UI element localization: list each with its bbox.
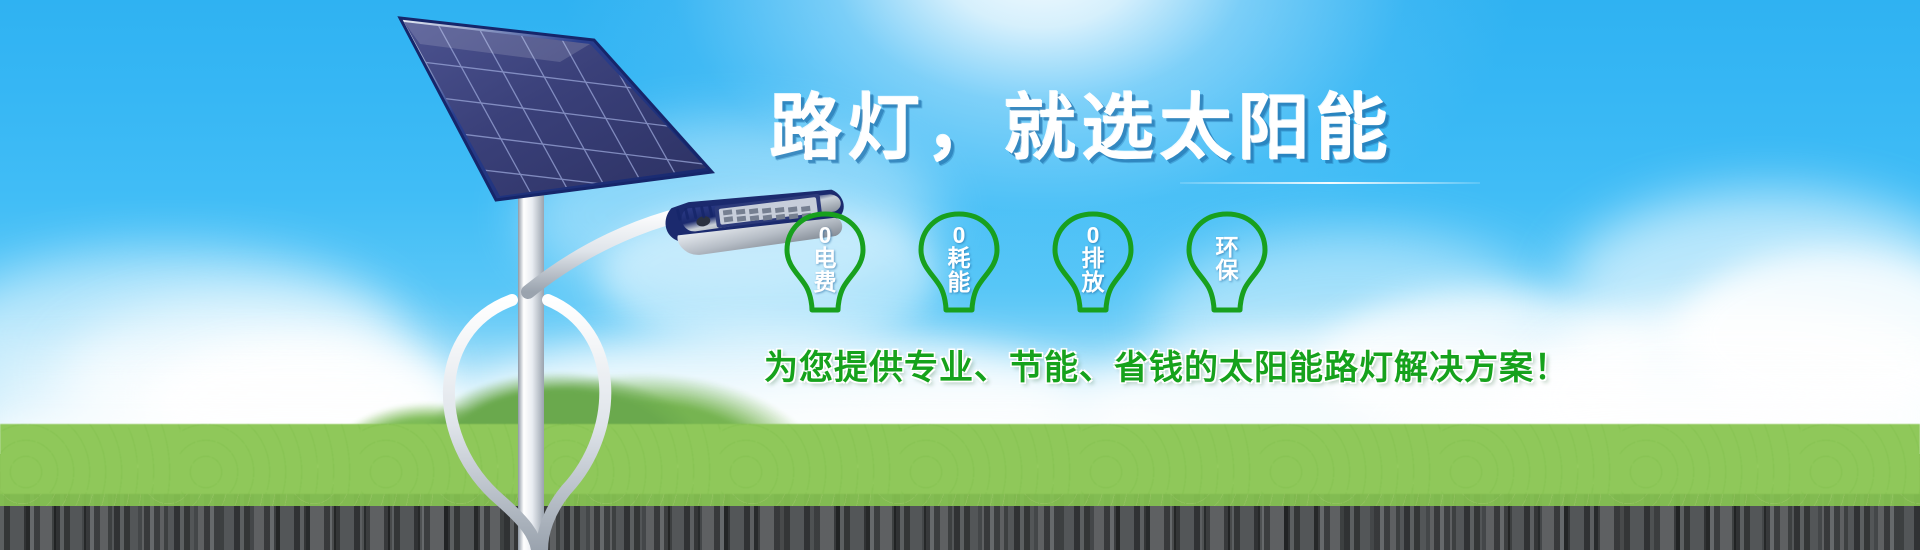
banner-tagline: 为您提供专业、节能、省钱的太阳能路灯解决方案！ — [760, 340, 1860, 389]
banner-text-block: 路灯，就选太阳能 0 电 费 0 耗 能 — [760, 92, 1860, 389]
badge-label-bottom: 保 — [1216, 259, 1239, 283]
feature-badge-environmental-protection[interactable]: 环 保 — [1184, 210, 1270, 314]
badge-label-top: 排 — [1082, 247, 1105, 271]
badge-zero-value: 0 — [1087, 224, 1100, 248]
badge-label-bottom: 放 — [1082, 271, 1105, 295]
feature-badge-zero-emission[interactable]: 0 排 放 — [1050, 210, 1136, 314]
badge-label-top: 环 — [1216, 236, 1239, 260]
badge-label-bottom: 费 — [814, 271, 837, 295]
feature-badge-zero-electricity-fee[interactable]: 0 电 费 — [782, 210, 868, 314]
feature-badge-list: 0 电 费 0 耗 能 0 — [760, 210, 1860, 314]
solar-street-light-banner: 路灯，就选太阳能 0 电 费 0 耗 能 — [0, 0, 1920, 550]
badge-label-bottom: 能 — [948, 271, 971, 295]
page-title: 路灯，就选太阳能 — [760, 92, 1860, 168]
badge-label-top: 耗 — [948, 247, 971, 271]
badge-zero-value: 0 — [819, 224, 832, 248]
badge-zero-value: 0 — [953, 224, 966, 248]
ivy-foliage — [0, 424, 1920, 494]
title-divider — [1180, 182, 1480, 184]
badge-label-top: 电 — [814, 247, 837, 271]
feature-badge-zero-energy-consumption[interactable]: 0 耗 能 — [916, 210, 1002, 314]
